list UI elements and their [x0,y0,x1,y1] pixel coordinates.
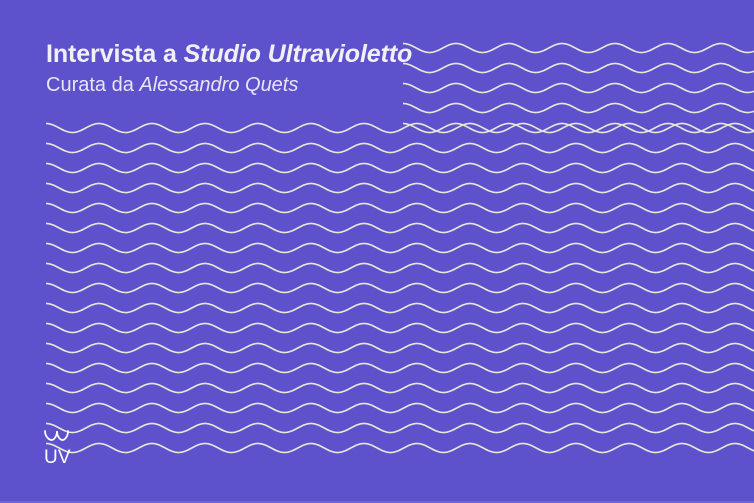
page-subtitle: Curata da Alessandro Quets [46,72,412,98]
uv-wave-mark-icon [44,429,88,447]
page-title-emphasis: Studio Ultravioletto [184,40,413,68]
poster-canvas: Intervista a Studio Ultravioletto Curata… [0,0,754,503]
wave-pattern-top-right [403,42,754,146]
page-title-prefix: Intervista a [46,40,184,68]
wave-pattern-main [46,122,754,462]
page-title: Intervista a Studio Ultravioletto [46,38,412,70]
page-subtitle-prefix: Curata da [46,74,139,96]
uv-logo-text: UV [44,448,88,468]
uv-logo: UV [44,429,88,471]
heading-group: Intervista a Studio Ultravioletto Curata… [46,38,412,98]
page-subtitle-emphasis: Alessandro Quets [139,74,298,96]
